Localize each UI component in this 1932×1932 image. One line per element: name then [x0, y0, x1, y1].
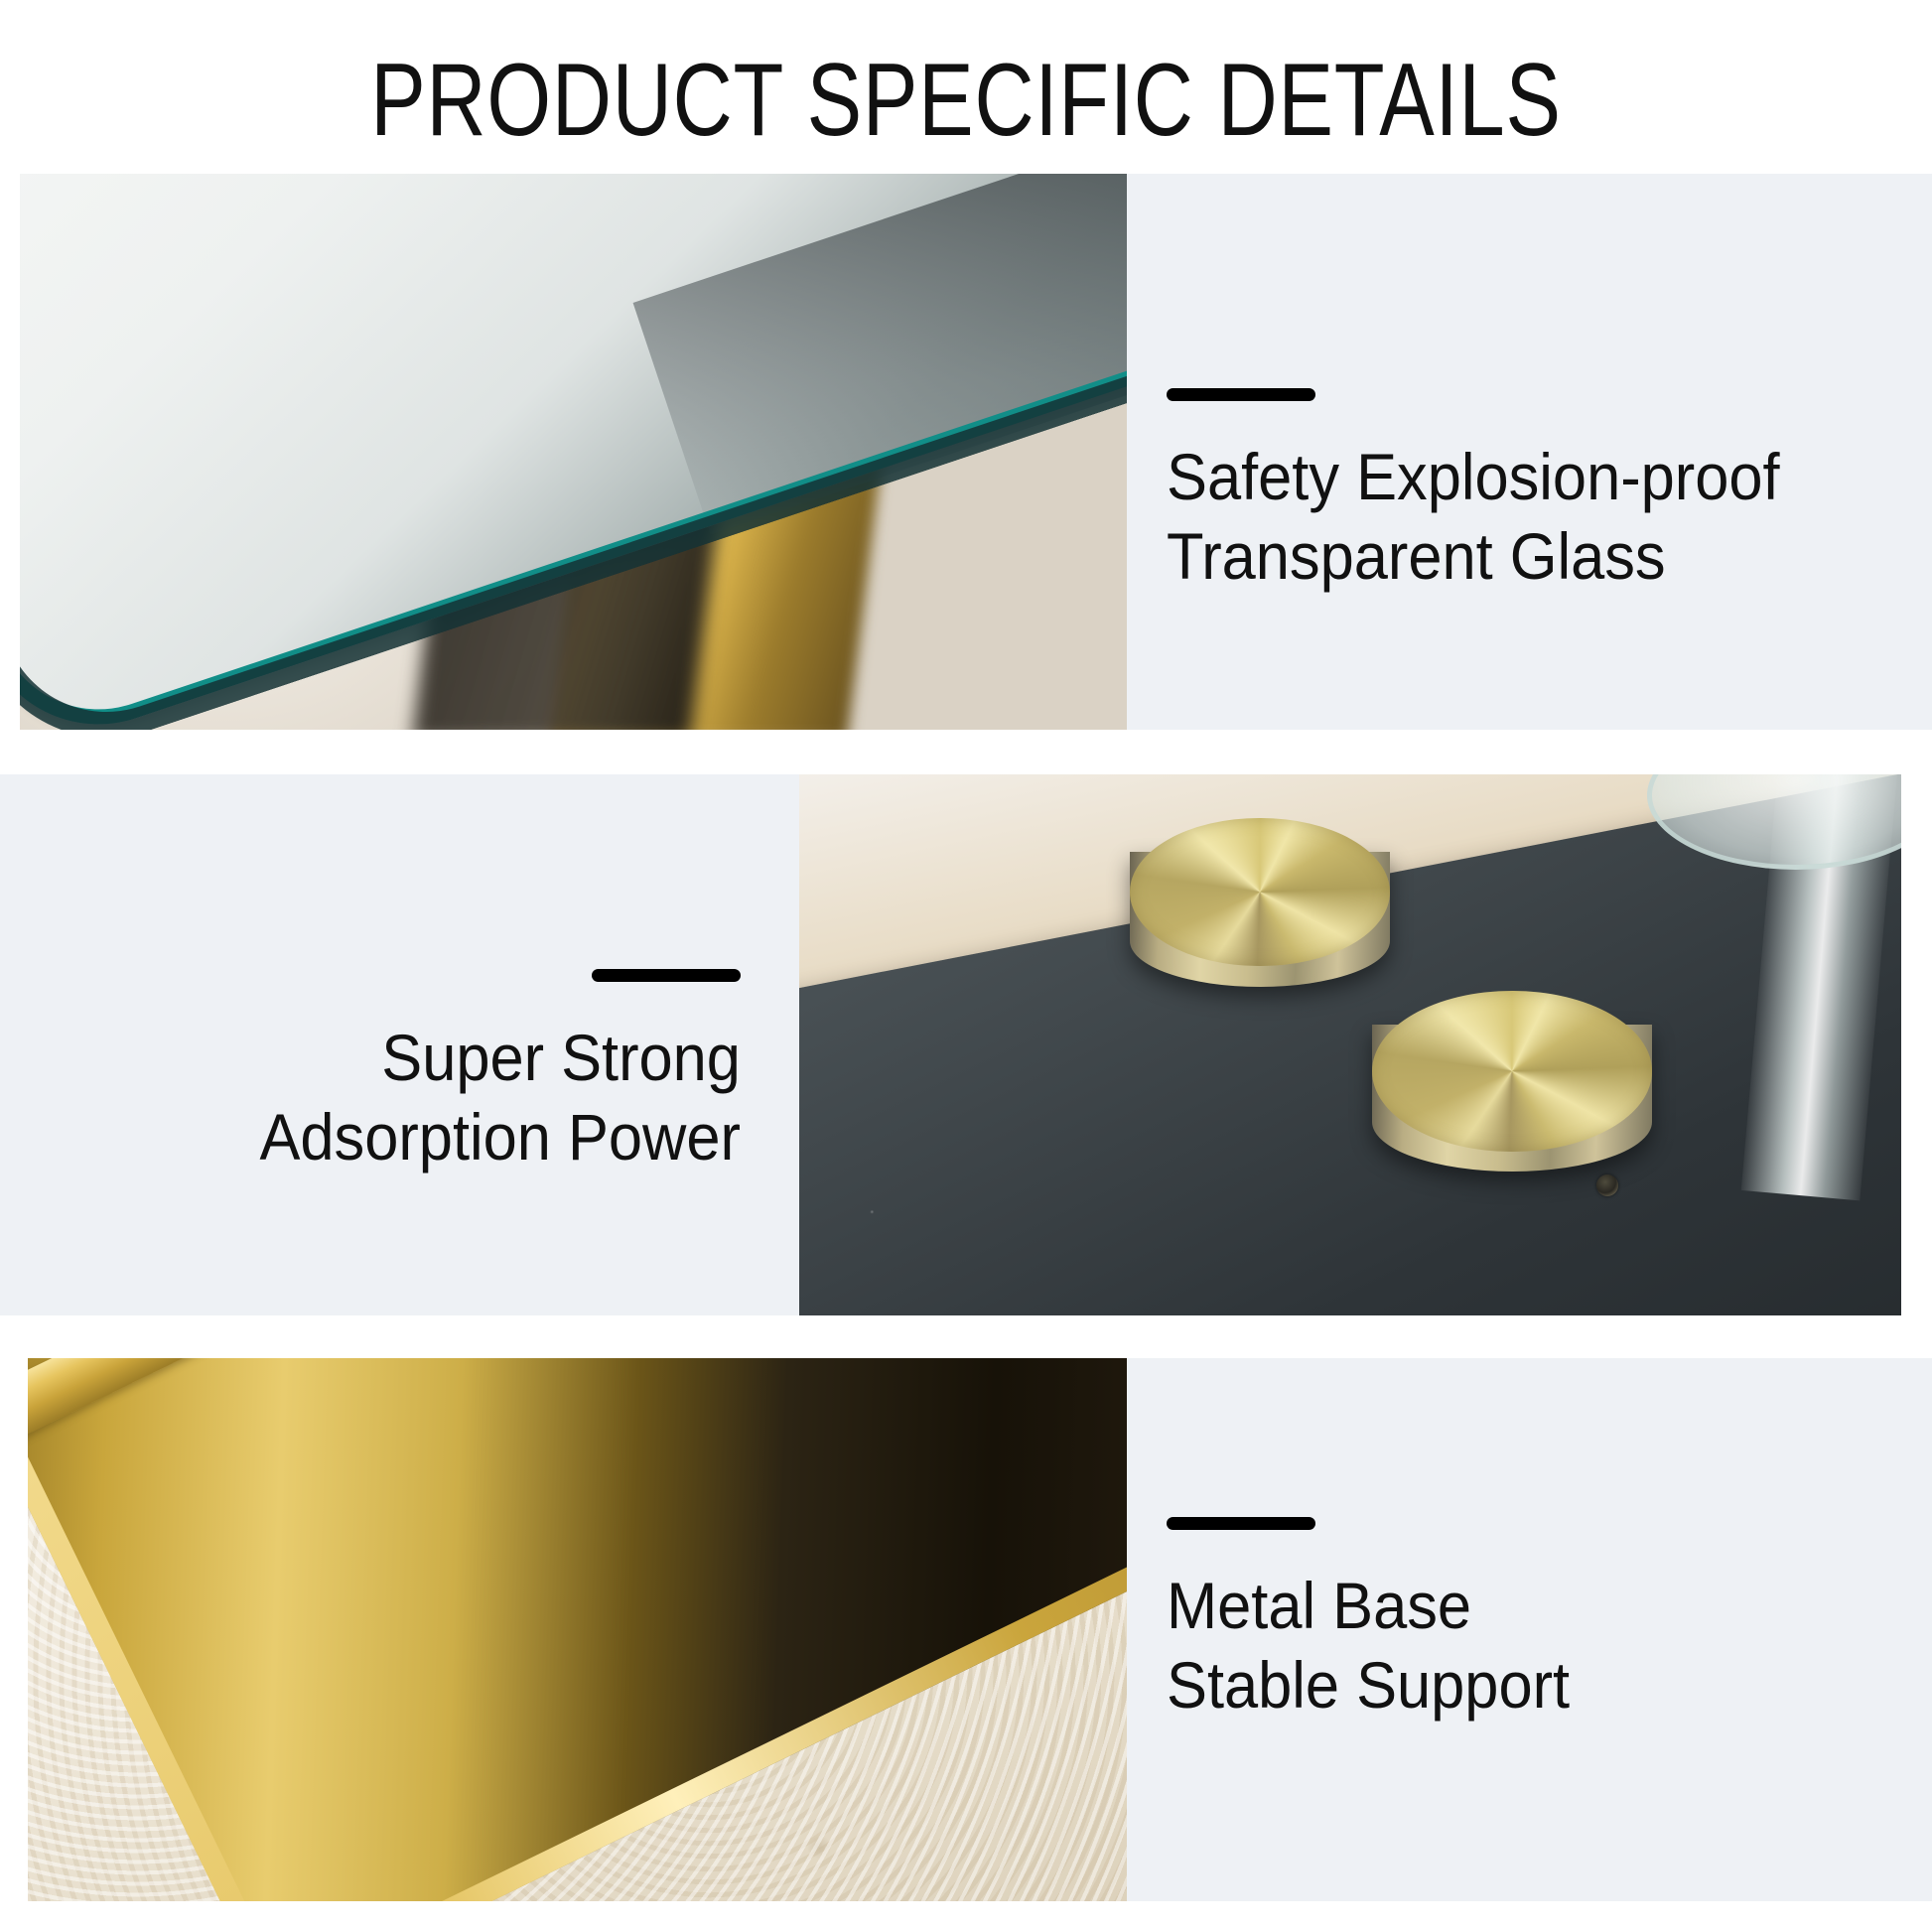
brass-disc-lower-top [1372, 991, 1652, 1152]
brass-disc-upper [1130, 818, 1390, 1036]
brass-disc-upper-top [1130, 818, 1390, 967]
product-photo-brass-discs [799, 774, 1901, 1315]
feature-row-safety-glass: Safety Explosion-proof Transparent Glass [0, 174, 1932, 730]
page-title: PRODUCT SPECIFIC DETAILS [194, 46, 1739, 155]
caption-line-2: Adsorption Power [260, 1097, 741, 1176]
caption-line-1: Safety Explosion-proof [1167, 437, 1780, 516]
set-screw-hole [1596, 1174, 1618, 1196]
accent-dash-icon [1167, 1517, 1315, 1530]
feature-row-metal-base: Metal Base Stable Support [0, 1358, 1932, 1901]
caption-line-1: Super Strong [260, 1018, 741, 1097]
accent-dash-icon [1167, 388, 1315, 401]
accent-dash-icon [592, 969, 741, 982]
feature-caption-adsorption-power: Super Strong Adsorption Power [223, 969, 741, 1176]
feature-row-adsorption-power: Super Strong Adsorption Power [0, 774, 1932, 1315]
caption-line-2: Transparent Glass [1167, 516, 1780, 596]
caption-line-1: Metal Base [1167, 1566, 1570, 1645]
brass-disc-lower [1372, 991, 1652, 1227]
product-photo-gold-base [28, 1358, 1127, 1901]
feature-caption-safety-glass: Safety Explosion-proof Transparent Glass [1167, 388, 1826, 596]
feature-caption-metal-base: Metal Base Stable Support [1167, 1517, 1600, 1725]
product-photo-glass-corner [20, 174, 1127, 730]
caption-line-2: Stable Support [1167, 1645, 1570, 1725]
